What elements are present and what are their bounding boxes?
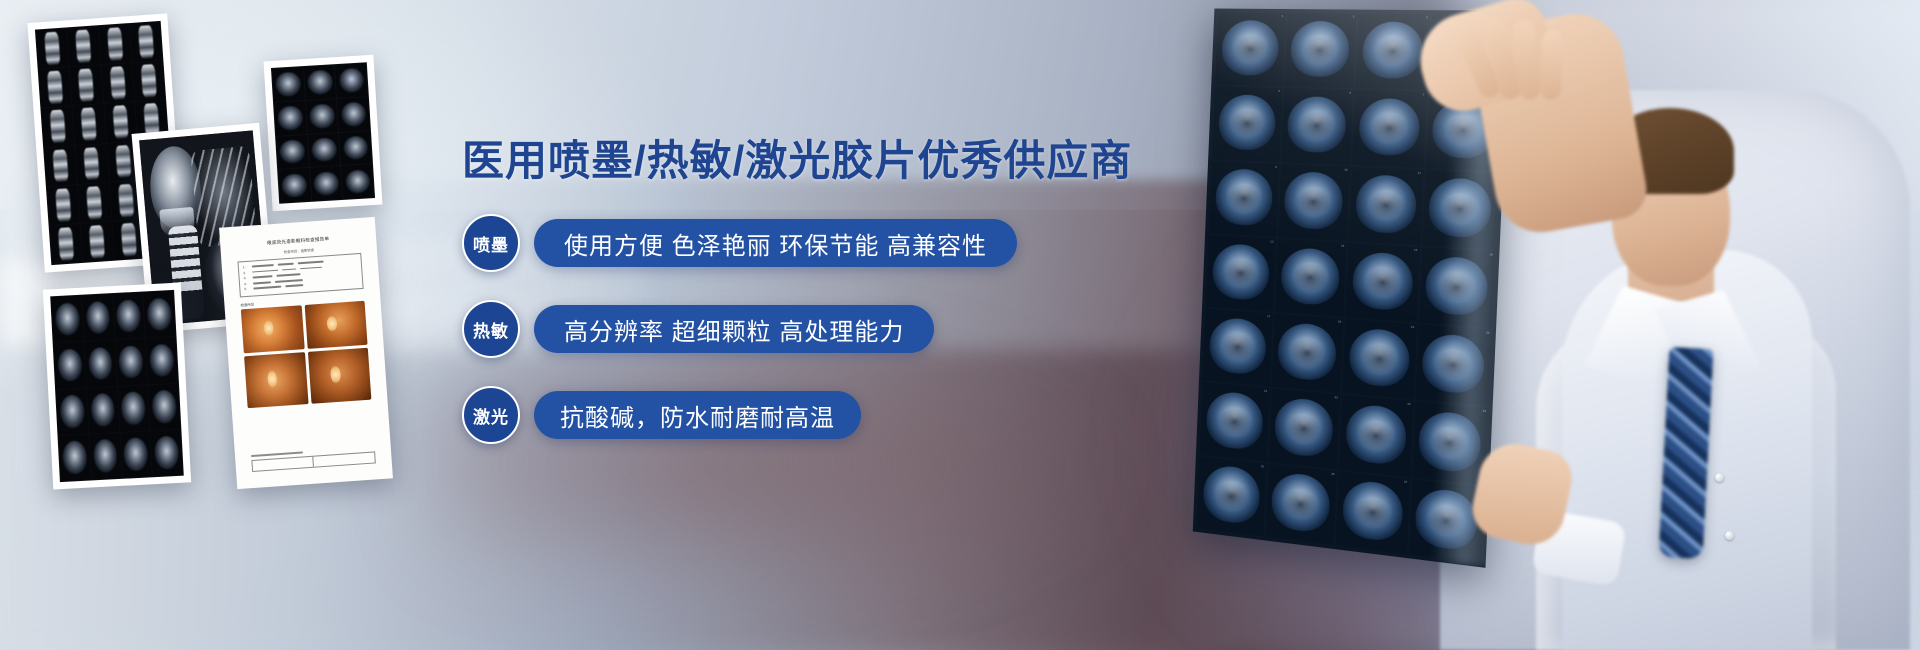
feature-list: 喷墨 使用方便 色泽艳丽 环保节能 高兼容性 热敏 高分辨率 超细颗粒 高处理能… [462, 214, 1102, 444]
badge-inkjet: 喷墨 [462, 214, 520, 272]
doctor-holding-mri-film: 1234 5678 9101112 13141516 17181920 2122… [1160, 0, 1920, 650]
feature-row-thermal: 热敏 高分辨率 超细颗粒 高处理能力 [462, 300, 1102, 358]
report-findings-box: 1. 2. 3. 4. 5. [237, 253, 363, 298]
feature-text-laser: 抗酸碱，防水耐磨耐高温 [534, 391, 861, 439]
medical-film-banner: 眼底荧光造影眼科检查报告单 检查项目：造影检查 1. 2. 3. 4. 5. 检… [0, 0, 1920, 650]
report-fundus-images [241, 301, 372, 408]
doctor-finger-4 [1540, 30, 1563, 101]
report-footer [251, 447, 376, 472]
film-tile-grid [271, 62, 375, 204]
feature-row-inkjet: 喷墨 使用方便 色泽艳丽 环保节能 高兼容性 [462, 214, 1102, 272]
banner-content: 医用喷墨/热敏/激光胶片优秀供应商 喷墨 使用方便 色泽艳丽 环保节能 高兼容性… [462, 138, 1102, 472]
vest-button-1 [1715, 473, 1724, 482]
film-collage: 眼底荧光造影眼科检查报告单 检查项目：造影检查 1. 2. 3. 4. 5. 检… [0, 0, 420, 650]
fundus-image-3 [244, 352, 308, 408]
film-tile-grid [50, 290, 184, 482]
fundus-image-2 [304, 301, 367, 349]
brain-ct-film [264, 55, 383, 211]
feature-text-thermal: 高分辨率 超细颗粒 高处理能力 [534, 305, 934, 353]
medical-report-sheet: 眼底荧光造影眼科检查报告单 检查项目：造影检查 1. 2. 3. 4. 5. 检… [219, 217, 393, 489]
badge-laser: 激光 [462, 386, 520, 444]
page-title: 医用喷墨/热敏/激光胶片优秀供应商 [462, 138, 1102, 184]
vest-button-2 [1725, 531, 1734, 540]
feature-text-inkjet: 使用方便 色泽艳丽 环保节能 高兼容性 [534, 219, 1017, 267]
fundus-image-4 [307, 348, 371, 404]
feature-row-laser: 激光 抗酸碱，防水耐磨耐高温 [462, 386, 1102, 444]
fundus-image-1 [241, 305, 304, 353]
brain-mri-film [43, 283, 191, 490]
badge-thermal: 热敏 [462, 300, 520, 358]
